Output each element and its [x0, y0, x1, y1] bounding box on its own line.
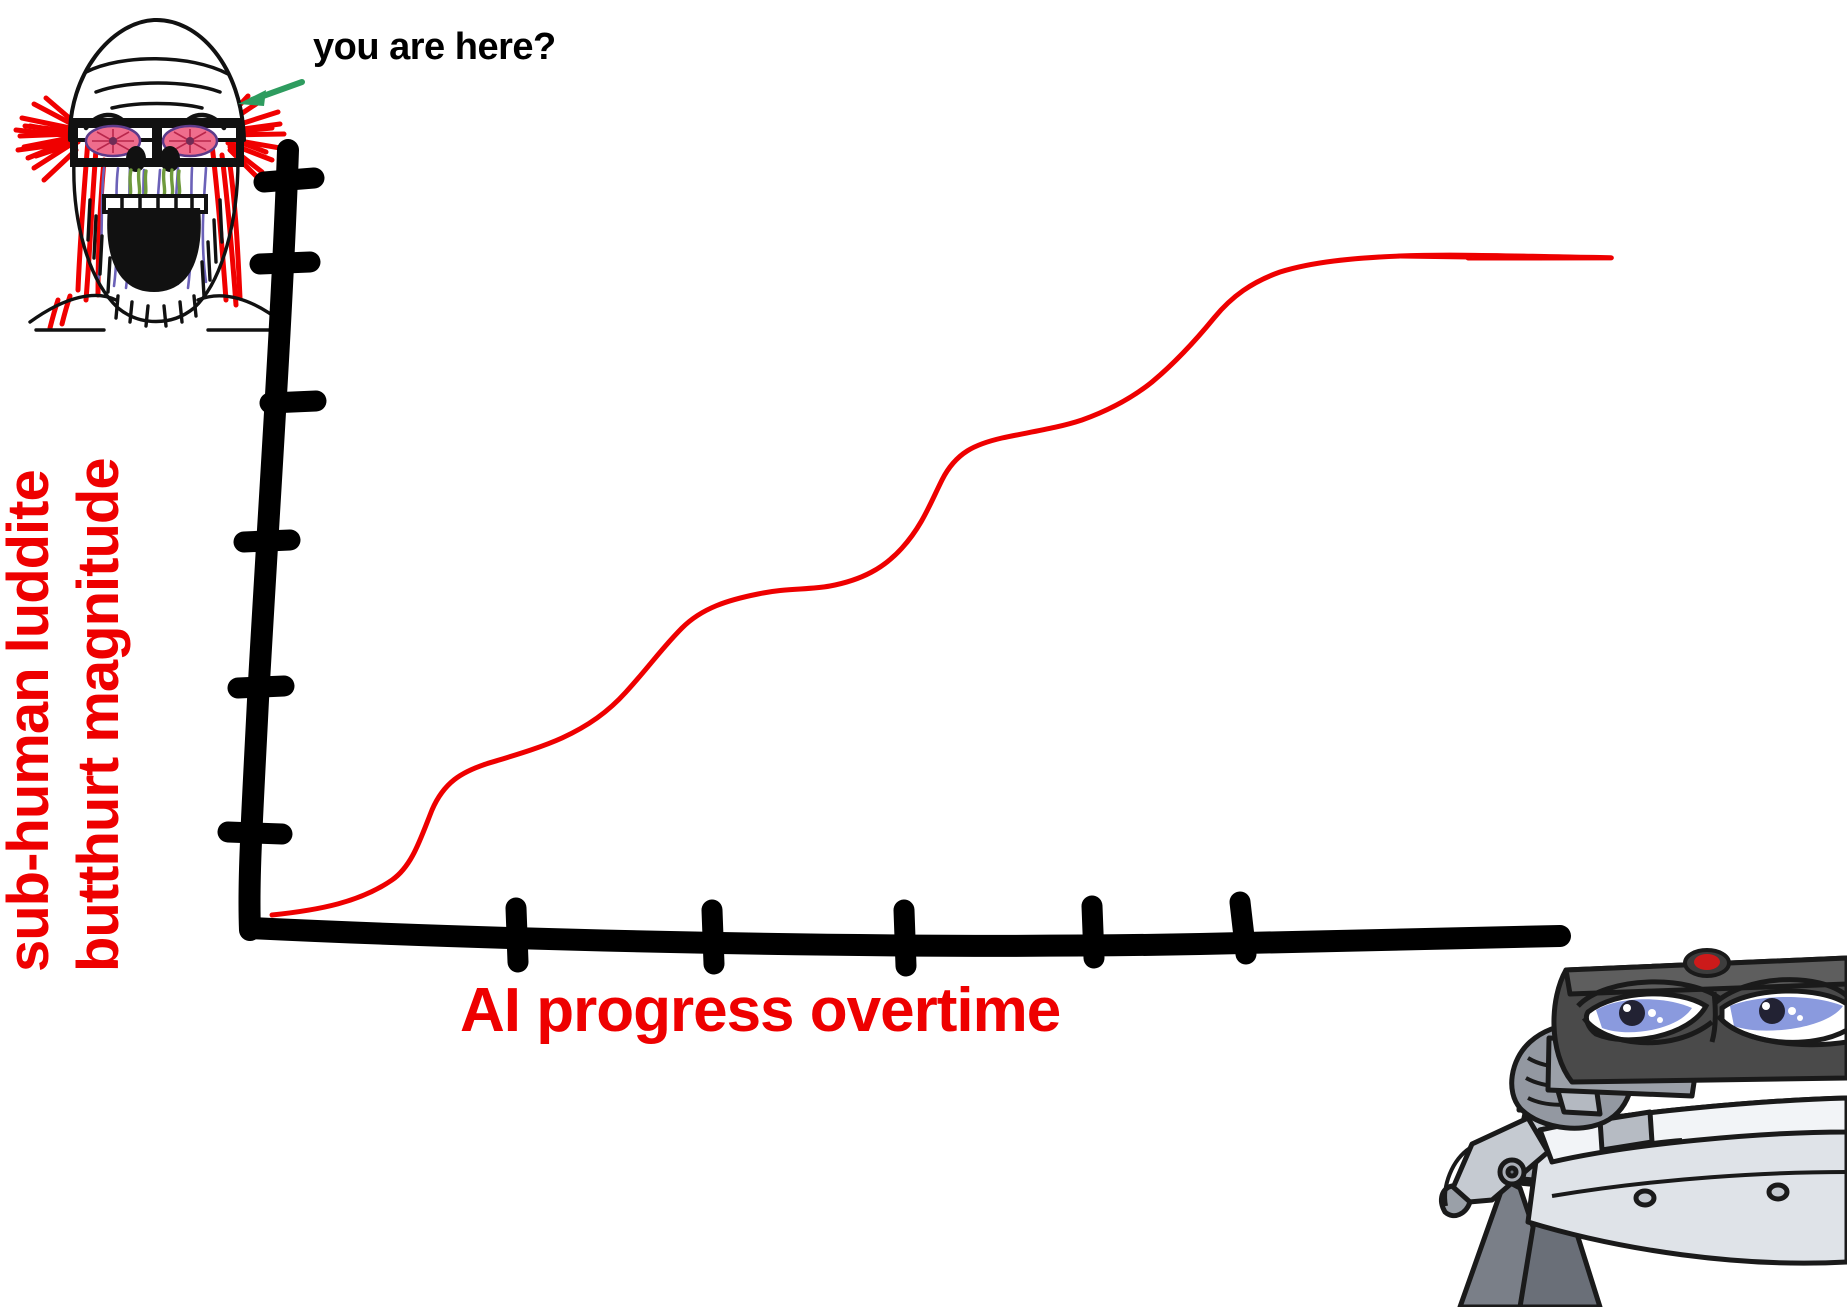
y-axis-label-line-1: sub-human luddite: [0, 470, 62, 972]
you-are-here-annotation: you are here?: [313, 26, 556, 69]
meme-chart-canvas: you are here? AI progress overtime sub-h…: [0, 0, 1847, 1307]
robot-indicator-light: [1685, 950, 1729, 976]
smug-robot-figure: [0, 0, 1847, 1307]
y-axis-label-line-2: butthurt magnitude: [65, 458, 132, 972]
x-axis-label: AI progress overtime: [460, 975, 1060, 1046]
